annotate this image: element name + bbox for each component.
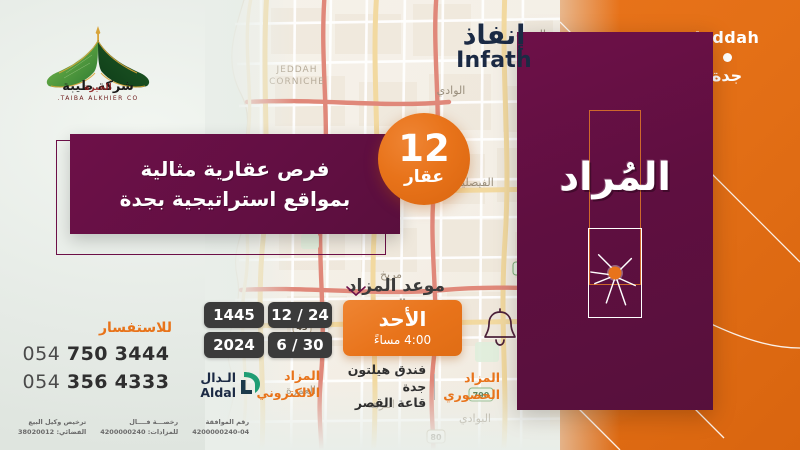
infath-logo: إنفاذ Infath — [438, 22, 550, 73]
venue-divider — [434, 374, 435, 400]
legal-item: رقم الموافقة 4200000240-04 — [192, 418, 249, 438]
venue-type-line-1: المزاد — [443, 370, 500, 387]
infath-logo-en: Infath — [438, 48, 550, 73]
venue-place: فندق هيلتون جدة قاعة القصر — [340, 362, 426, 413]
aldal-name-ar: الـدال — [196, 370, 236, 385]
venue-block: المزاد الحضوري فندق هيلتون جدة قاعة القص… — [340, 368, 500, 406]
phone-1-end: 3444 — [115, 343, 170, 365]
headline-line-2: بمواقع استراتيجية بجدة — [120, 187, 351, 212]
hijri-month-day: 12 / 24 — [268, 302, 332, 328]
svg-text:البوادي: البوادي — [459, 412, 491, 425]
phone-2-prefix: 054 — [23, 371, 61, 393]
murad-panel: المُراد — [517, 32, 713, 410]
phone-2-mid: 356 — [67, 371, 108, 393]
electronic-auction-label: المزاد الالكتروني — [262, 368, 320, 402]
ad-canvas: 4050 271 43 790 80 55 المروة — [0, 0, 800, 450]
svg-text:JEDDAH: JEDDAH — [276, 65, 318, 75]
legal-title: رخصـــة فــــال — [100, 418, 178, 428]
auction-day-button[interactable]: الأحد 4:00 مساءً — [343, 300, 462, 356]
legal-value: للمزادات: 4200000240 — [100, 428, 178, 438]
legal-value: الفضائي: 38020012 — [18, 428, 86, 438]
svg-text:80: 80 — [430, 433, 442, 442]
phone-number-2[interactable]: 054 356 4333 — [18, 371, 174, 393]
gregorian-year: 2024 — [204, 332, 264, 358]
property-count-number: 12 — [398, 131, 450, 166]
property-count-unit: عقار — [404, 167, 444, 187]
svg-text:الوادي: الوادي — [437, 84, 466, 97]
svg-text:CORNICHE: CORNICHE — [269, 77, 325, 87]
svg-text:TAIBA ALKHIER CO.: TAIBA ALKHIER CO. — [57, 95, 138, 102]
property-count-badge: 12 عقار — [378, 113, 470, 205]
inquiry-label: للاستفسار — [104, 320, 172, 336]
phone-number-1[interactable]: 054 750 3444 — [18, 343, 174, 365]
legal-title: رقم الموافقة — [192, 418, 249, 428]
city-marker-dot — [723, 53, 732, 62]
phone-2-end: 4333 — [115, 371, 170, 393]
venue-place-line-2: قاعة القصر — [340, 395, 426, 412]
bell-icon — [481, 306, 519, 348]
hijri-date-row: 12 / 24 1445 — [204, 302, 332, 328]
legal-value: 4200000240-04 — [192, 428, 249, 438]
gregorian-month-day: 6 / 30 — [268, 332, 332, 358]
crossroads-pin-icon — [588, 228, 642, 318]
auction-time: 4:00 مساءً — [374, 333, 431, 347]
venue-place-line-1: فندق هيلتون جدة — [340, 362, 426, 396]
aldal-swoosh-icon — [238, 369, 262, 397]
infath-logo-ar: إنفاذ — [438, 22, 550, 50]
svg-text:الخيرة: الخيرة — [84, 83, 112, 93]
aldal-wordmark: الـدال Aldal — [196, 370, 236, 400]
electronic-auction-line-1: المزاد — [262, 368, 320, 385]
hijri-year: 1445 — [204, 302, 264, 328]
headline-banner: فرص عقارية مثالية بمواقع استراتيجية بجدة — [70, 134, 400, 234]
electronic-auction-line-2: الالكتروني — [262, 385, 320, 402]
auction-day: الأحد — [379, 309, 427, 329]
chevron-down-icon — [345, 282, 367, 294]
location-dot — [609, 267, 622, 280]
taiba-alkhier-logo: شركة طيبة الخيرة TAIBA ALKHIER CO. — [30, 20, 166, 112]
venue-type: المزاد الحضوري — [443, 370, 500, 404]
legal-item: ترخيص وكيل البيع الفضائي: 38020012 — [18, 418, 86, 438]
gregorian-date-row: 6 / 30 2024 — [204, 332, 332, 358]
phone-1-prefix: 054 — [23, 343, 61, 365]
aldal-name-en: Aldal — [196, 385, 236, 400]
headline-line-1: فرص عقارية مثالية — [141, 157, 330, 182]
legal-fine-print: ترخيص وكيل البيع الفضائي: 38020012 رخصــ… — [18, 418, 270, 438]
murad-title: المُراد — [517, 158, 713, 197]
legal-title: ترخيص وكيل البيع — [18, 418, 86, 428]
aldal-logo: الـدال Aldal — [196, 368, 258, 404]
venue-type-line-2: الحضوري — [443, 387, 500, 404]
legal-item: رخصـــة فــــال للمزادات: 4200000240 — [100, 418, 178, 438]
auction-date-chips: 12 / 24 1445 6 / 30 2024 — [204, 302, 332, 362]
phone-1-mid: 750 — [67, 343, 108, 365]
